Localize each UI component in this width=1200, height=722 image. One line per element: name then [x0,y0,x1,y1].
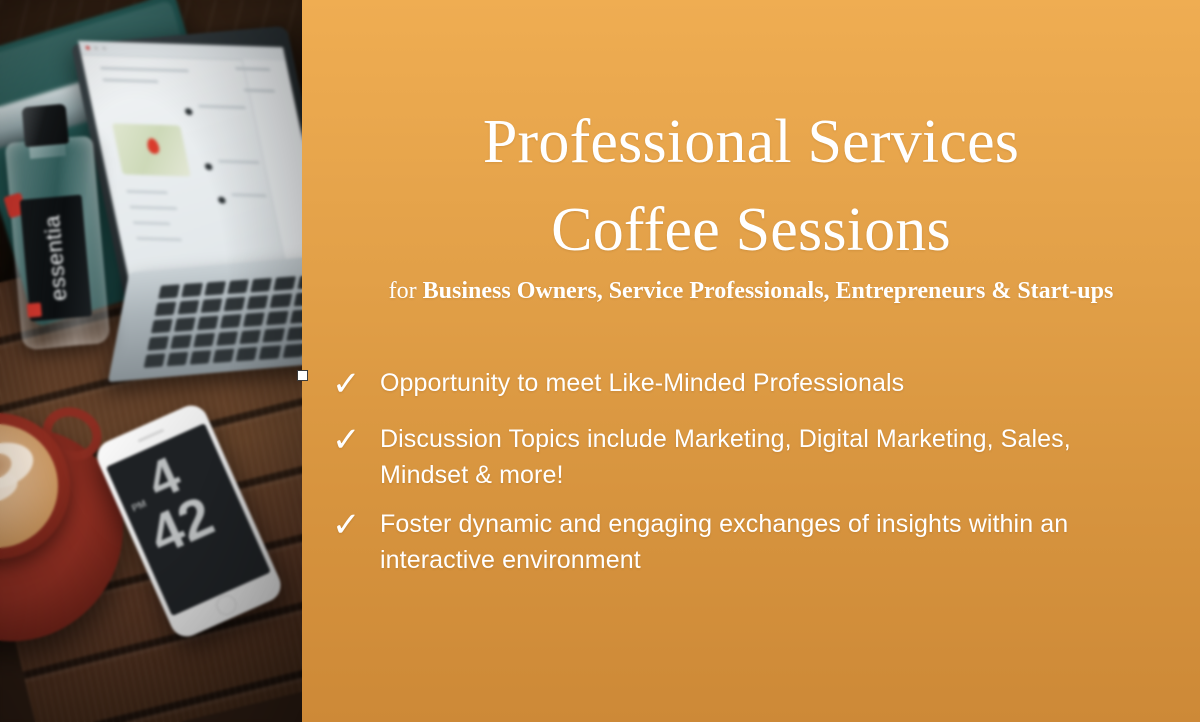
checkmark-icon: ✓ [332,507,380,543]
screen-text-line [198,105,246,109]
browser-toolbar [78,41,286,62]
bottle-brand-text: essentia [39,214,72,302]
photo-image[interactable]: essentia 4 PM 42 [0,0,302,722]
bottle-red-logo [27,303,42,318]
screen-text-line [231,193,267,197]
list-item-label: Discussion Topics include Marketing, Dig… [380,422,1166,493]
screen-list-dot [184,108,193,115]
list-item: ✓ Foster dynamic and engaging exchanges … [332,507,1166,578]
subtitle-audience: Business Owners, Service Professionals, … [423,278,1114,304]
checkmark-icon: ✓ [332,366,380,402]
subtitle: for Business Owners, Service Professiona… [302,278,1200,305]
title-line-2: Coffee Sessions [302,186,1200,274]
screen-list-dot [218,197,227,204]
screen-list-dot [204,163,213,170]
list-item-label: Opportunity to meet Like-Minded Professi… [380,366,1166,402]
benefits-list: ✓ Opportunity to meet Like-Minded Profes… [332,366,1166,594]
checkmark-icon: ✓ [332,422,380,458]
title-line-1: Professional Services [302,98,1200,186]
image-resize-handle-middle-right[interactable] [297,370,308,381]
phone-clock-minutes: 42 [141,487,221,563]
keyboard-keys [142,268,302,377]
screen-text-line [133,221,171,225]
window-max-dot [102,46,107,50]
screen-text-line [126,190,168,194]
screen-sidebar [242,59,302,286]
screen-text-line [136,237,182,241]
list-item: ✓ Opportunity to meet Like-Minded Profes… [332,366,1166,402]
list-item: ✓ Discussion Topics include Marketing, D… [332,422,1166,493]
screen-text-line [100,67,189,73]
latte-art [0,438,46,532]
list-item-label: Foster dynamic and engaging exchanges of… [380,507,1166,578]
screen-text-line [235,67,271,71]
content-panel: Professional Services Coffee Sessions fo… [302,0,1200,722]
slide-canvas: essentia 4 PM 42 Professional Ser [0,0,1200,722]
window-close-dot [85,46,90,50]
phone-speaker [138,429,165,443]
screen-text-line [102,78,158,83]
bottle-cap [22,104,69,148]
window-min-dot [94,46,99,50]
screen-text-line [129,206,177,210]
subtitle-lead: for [389,278,423,304]
page-title: Professional Services Coffee Sessions [302,98,1200,274]
screen-text-line [218,160,260,164]
